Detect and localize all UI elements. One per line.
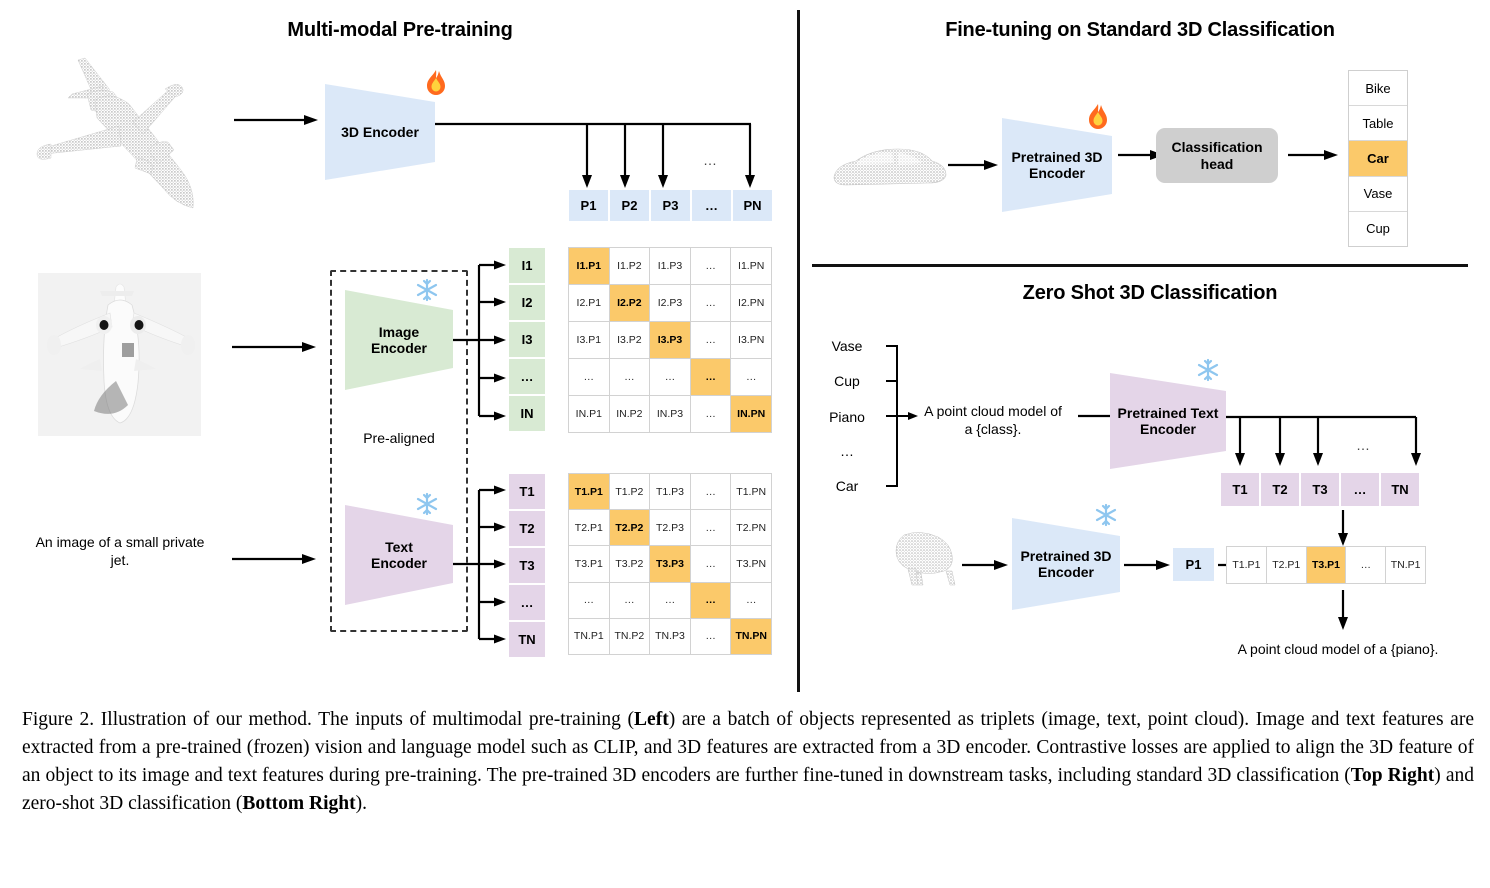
pre-aligned-label: Pre-aligned bbox=[334, 430, 464, 448]
sim-cell[interactable]: T2.P1 bbox=[1267, 547, 1306, 583]
matrix-cell[interactable]: I1.P3 bbox=[650, 248, 690, 284]
matrix-cell[interactable]: … bbox=[691, 248, 731, 284]
matrix-cell[interactable]: IN.P1 bbox=[569, 396, 609, 432]
text-encoder-label-1: Text bbox=[385, 539, 413, 555]
p-token-row: P1 P2 P3 … PN bbox=[568, 189, 773, 222]
text-encoder-label-2: Encoder bbox=[1140, 421, 1196, 437]
matrix-cell[interactable]: I2.PN bbox=[731, 285, 771, 321]
class-list: Bike Table Car Vase Cup bbox=[1348, 70, 1408, 247]
zs-pretrained-3d-encoder-box[interactable]: Pretrained 3DEncoder bbox=[1012, 518, 1120, 610]
matrix-cell[interactable]: … bbox=[731, 359, 771, 395]
t-token[interactable]: T2 bbox=[508, 510, 546, 547]
matrix-cell[interactable]: T3.P2 bbox=[610, 546, 650, 581]
matrix-cell[interactable]: … bbox=[610, 359, 650, 395]
matrix-cell[interactable]: I2.P2 bbox=[610, 285, 650, 321]
sim-cell[interactable]: TN.P1 bbox=[1386, 547, 1425, 583]
image-encoder-label-2: Encoder bbox=[371, 340, 427, 356]
matrix-cell[interactable]: T3.P3 bbox=[650, 546, 690, 581]
i-token[interactable]: … bbox=[508, 358, 546, 395]
panel-divider-horizontal bbox=[812, 264, 1468, 267]
class-item[interactable]: Bike bbox=[1349, 71, 1407, 106]
matrix-cell[interactable]: T1.P2 bbox=[610, 474, 650, 509]
matrix-cell[interactable]: IN.P3 bbox=[650, 396, 690, 432]
matrix-cell[interactable]: I1.P2 bbox=[610, 248, 650, 284]
t-token[interactable]: T1 bbox=[508, 473, 546, 510]
prompt-line-1: A point cloud model of bbox=[924, 403, 1062, 419]
prompt-template: A point cloud model of a {class}. bbox=[908, 403, 1078, 438]
matrix-cell[interactable]: TN.P2 bbox=[610, 619, 650, 654]
matrix-cell[interactable]: I2.P1 bbox=[569, 285, 609, 321]
bottomright-panel-title: Zero Shot 3D Classification bbox=[950, 282, 1350, 305]
i-token[interactable]: I3 bbox=[508, 321, 546, 358]
i-token[interactable]: IN bbox=[508, 395, 546, 432]
caption-bold-left: Left bbox=[634, 709, 669, 730]
arrow-image-to-image-encoder bbox=[232, 340, 318, 354]
p-token[interactable]: … bbox=[691, 189, 732, 222]
arrow-ttokens-to-simrow bbox=[1336, 510, 1350, 548]
matrix-cell[interactable]: … bbox=[691, 322, 731, 358]
arrow-text-to-text-encoder bbox=[232, 552, 318, 566]
sim-cell[interactable]: T1.P1 bbox=[1227, 547, 1266, 583]
3d-encoder-label: 3D Encoder bbox=[341, 124, 419, 140]
matrix-cell[interactable]: … bbox=[691, 474, 731, 509]
zs-class-ellipsis: … bbox=[812, 443, 882, 461]
matrix-cell[interactable]: T1.P1 bbox=[569, 474, 609, 509]
matrix-cell[interactable]: … bbox=[691, 583, 731, 618]
head-label-1: Classification bbox=[1171, 139, 1262, 155]
matrix-cell[interactable]: … bbox=[691, 546, 731, 581]
text-encoder-label-2: Encoder bbox=[371, 555, 427, 571]
encoder-label-2: Encoder bbox=[1029, 165, 1085, 181]
zs-bus-ellipsis: … bbox=[1356, 437, 1371, 453]
classification-head-box[interactable]: Classificationhead bbox=[1156, 128, 1278, 183]
zs-class-car: Car bbox=[812, 478, 882, 496]
text-input-value: An image of a small private jet. bbox=[36, 534, 205, 568]
pretrained-3d-encoder-box[interactable]: Pretrained 3DEncoder bbox=[1002, 118, 1112, 212]
matrix-cell[interactable]: I1.P1 bbox=[569, 248, 609, 284]
p-token[interactable]: P1 bbox=[568, 189, 609, 222]
matrix-cell[interactable]: I3.PN bbox=[731, 322, 771, 358]
matrix-cell[interactable]: … bbox=[691, 396, 731, 432]
matrix-cell[interactable]: T1.PN bbox=[731, 474, 771, 509]
piano-point-cloud bbox=[890, 525, 968, 587]
sim-cell-selected[interactable]: T3.P1 bbox=[1307, 547, 1346, 583]
bus-ellipsis-p: … bbox=[703, 152, 718, 168]
figure-caption: Figure 2. Illustration of our method. Th… bbox=[22, 706, 1474, 818]
car-point-cloud bbox=[828, 135, 948, 193]
zs-encoder-label-1: Pretrained 3D bbox=[1020, 548, 1111, 564]
matrix-cell[interactable]: T1.P3 bbox=[650, 474, 690, 509]
class-item[interactable]: Vase bbox=[1349, 177, 1407, 212]
zs-class-cup: Cup bbox=[812, 373, 882, 391]
matrix-cell[interactable]: I2.P3 bbox=[650, 285, 690, 321]
zs-p-token[interactable]: P1 bbox=[1172, 547, 1215, 582]
matrix-cell[interactable]: IN.P2 bbox=[610, 396, 650, 432]
text-3d-similarity-matrix: T1.P1 T1.P2 T1.P3 … T1.PN T2.P1 T2.P2 T2… bbox=[568, 473, 772, 655]
encoder-label-1: Pretrained 3D bbox=[1011, 149, 1102, 165]
text-encoder-box[interactable]: TextEncoder bbox=[345, 505, 453, 605]
zs-t-token[interactable]: T1 bbox=[1220, 472, 1260, 507]
3d-encoder-box[interactable]: 3D Encoder bbox=[325, 84, 435, 180]
matrix-cell[interactable]: T2.P2 bbox=[610, 510, 650, 545]
t-token[interactable]: T3 bbox=[508, 547, 546, 584]
class-item[interactable]: Cup bbox=[1349, 212, 1407, 246]
matrix-cell[interactable]: … bbox=[650, 359, 690, 395]
left-panel-title: Multi-modal Pre-training bbox=[280, 19, 520, 42]
matrix-cell[interactable]: … bbox=[569, 583, 609, 618]
prompt-line-2: a {class}. bbox=[965, 421, 1022, 437]
image-encoder-box[interactable]: ImageEncoder bbox=[345, 290, 453, 390]
matrix-cell[interactable]: … bbox=[691, 619, 731, 654]
pretrained-text-encoder-box[interactable]: Pretrained TextEncoder bbox=[1110, 373, 1226, 469]
matrix-cell[interactable]: … bbox=[691, 510, 731, 545]
i-token[interactable]: I1 bbox=[508, 247, 546, 284]
matrix-cell[interactable]: IN.PN bbox=[731, 396, 771, 432]
zs-class-vase: Vase bbox=[812, 338, 882, 356]
airplane-point-cloud bbox=[15, 42, 240, 222]
jet-image bbox=[38, 273, 201, 436]
p-token[interactable]: PN bbox=[732, 189, 773, 222]
image-encoder-label-1: Image bbox=[379, 324, 419, 340]
matrix-cell[interactable]: TN.P1 bbox=[569, 619, 609, 654]
zs-t-token[interactable]: … bbox=[1340, 472, 1380, 507]
zs-t-token[interactable]: TN bbox=[1380, 472, 1420, 507]
t-token-column: T1 T2 T3 … TN bbox=[508, 473, 546, 658]
text-feature-fanout bbox=[453, 482, 511, 657]
t-token[interactable]: … bbox=[508, 584, 546, 621]
panel-divider-vertical bbox=[797, 10, 800, 692]
p-token[interactable]: P2 bbox=[609, 189, 650, 222]
matrix-cell[interactable]: … bbox=[691, 285, 731, 321]
arrow-car-to-encoder bbox=[948, 158, 1000, 172]
text-input-caption: An image of a small private jet. bbox=[30, 534, 210, 569]
zs-text-feature-bus bbox=[1226, 412, 1426, 474]
zs-t-token[interactable]: T2 bbox=[1260, 472, 1300, 507]
arrow-piano-to-encoder bbox=[962, 558, 1010, 572]
matrix-cell[interactable]: … bbox=[650, 583, 690, 618]
image-3d-similarity-matrix: I1.P1 I1.P2 I1.P3 … I1.PN I2.P1 I2.P2 I2… bbox=[568, 247, 772, 433]
matrix-cell[interactable]: TN.PN bbox=[731, 619, 771, 654]
matrix-cell[interactable]: … bbox=[610, 583, 650, 618]
figure-canvas: Multi-modal Pre-training bbox=[0, 0, 1490, 700]
i-token-column: I1 I2 I3 … IN bbox=[508, 247, 546, 432]
zs-result-text: A point cloud model of a {piano}. bbox=[1188, 641, 1488, 659]
sim-cell[interactable]: … bbox=[1346, 547, 1385, 583]
caption-part-1: Figure 2. Illustration of our method. Th… bbox=[22, 709, 634, 730]
t-token[interactable]: TN bbox=[508, 621, 546, 658]
matrix-cell[interactable]: … bbox=[731, 583, 771, 618]
i-token[interactable]: I2 bbox=[508, 284, 546, 321]
arrow-head-to-classes bbox=[1288, 148, 1340, 162]
zs-t-token[interactable]: T3 bbox=[1300, 472, 1340, 507]
matrix-cell[interactable]: TN.P3 bbox=[650, 619, 690, 654]
caption-part-4: ). bbox=[356, 793, 367, 814]
image-feature-fanout bbox=[453, 255, 511, 435]
matrix-cell[interactable]: I3.P1 bbox=[569, 322, 609, 358]
zs-encoder-label-2: Encoder bbox=[1038, 564, 1094, 580]
matrix-cell[interactable]: T3.P1 bbox=[569, 546, 609, 581]
class-item[interactable]: Table bbox=[1349, 106, 1407, 141]
zs-t-token-row: T1 T2 T3 … TN bbox=[1220, 472, 1420, 507]
caption-bold-bottomright: Bottom Right bbox=[242, 793, 355, 814]
head-label-2: head bbox=[1201, 156, 1234, 172]
topright-panel-title: Fine-tuning on Standard 3D Classificatio… bbox=[880, 19, 1400, 42]
matrix-cell[interactable]: … bbox=[691, 359, 731, 395]
matrix-cell[interactable]: I1.PN bbox=[731, 248, 771, 284]
arrow-simrow-to-result bbox=[1336, 590, 1350, 632]
arrow-pointcloud-to-3d-encoder bbox=[234, 113, 320, 127]
zs-class-piano: Piano bbox=[812, 409, 882, 427]
arrow-encoder-to-p1 bbox=[1124, 558, 1172, 572]
matrix-cell[interactable]: I3.P2 bbox=[610, 322, 650, 358]
zs-similarity-row: T1.P1 T2.P1 T3.P1 … TN.P1 bbox=[1226, 546, 1426, 584]
p-token[interactable]: P3 bbox=[650, 189, 691, 222]
text-encoder-label-1: Pretrained Text bbox=[1118, 405, 1219, 421]
matrix-cell[interactable]: … bbox=[569, 359, 609, 395]
matrix-cell[interactable]: T2.P1 bbox=[569, 510, 609, 545]
matrix-cell[interactable]: T2.P3 bbox=[650, 510, 690, 545]
matrix-cell[interactable]: T3.PN bbox=[731, 546, 771, 581]
matrix-cell[interactable]: T2.PN bbox=[731, 510, 771, 545]
matrix-cell[interactable]: I3.P3 bbox=[650, 322, 690, 358]
caption-bold-topright: Top Right bbox=[1351, 765, 1434, 786]
class-item-selected[interactable]: Car bbox=[1349, 141, 1407, 176]
